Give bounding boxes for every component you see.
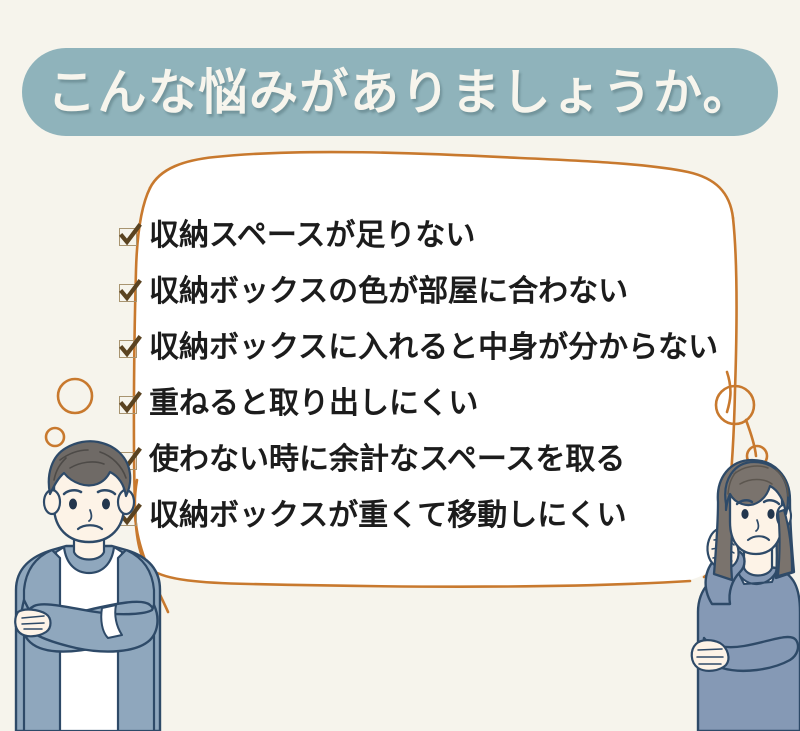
checkbox-checked-icon [118, 282, 140, 304]
list-item: 収納スペースが足りない [118, 208, 718, 264]
list-item: 収納ボックスが重くて移動しにくい [118, 488, 718, 544]
list-item-label: 収納ボックスの色が部屋に合わない [149, 277, 628, 307]
list-item: 使わない時に余計なスペースを取る [118, 432, 718, 488]
woman-eye-left [741, 509, 748, 519]
man-ear-left [44, 490, 60, 514]
bubble-tail-circle-right-large [716, 386, 754, 424]
worried-woman-illustration [672, 452, 800, 731]
worried-man-illustration [4, 440, 174, 731]
list-item-label: 収納ボックスが重くて移動しにくい [149, 501, 627, 531]
man-eye-right [102, 499, 110, 510]
list-item-label: 使わない時に余計なスペースを取る [149, 445, 625, 475]
list-item: 収納ボックスに入れると中身が分からない [118, 320, 718, 376]
checkbox-checked-icon [118, 226, 140, 248]
checkbox-checked-icon [118, 338, 140, 360]
list-item-label: 収納ボックスに入れると中身が分からない [149, 333, 718, 363]
problem-checklist: 収納スペースが足りない 収納ボックスの色が部屋に合わない 収納ボックスに入れると… [118, 208, 718, 544]
checkbox-checked-icon [118, 394, 140, 416]
bubble-tail-right-line-a [727, 372, 730, 412]
list-item-label: 重ねると取り出しにくい [149, 389, 478, 419]
bubble-outline-bottom [152, 570, 690, 587]
man-eye-left [69, 499, 77, 510]
header-banner: こんな悩みがありましょうか。 [22, 48, 778, 136]
list-item-label: 収納スペースが足りない [149, 221, 475, 251]
poster-canvas: こんな悩みがありましょうか。 収納スペースが足りない [0, 0, 800, 731]
list-item: 重ねると取り出しにくい [118, 376, 718, 432]
woman-hand-elbow [692, 640, 729, 671]
bubble-tail-right-line-b [746, 420, 756, 456]
list-item: 収納ボックスの色が部屋に合わない [118, 264, 718, 320]
bubble-tail-circle-left-large [58, 379, 92, 413]
woman-eye-right [767, 509, 774, 519]
page-title: こんな悩みがありましょうか。 [47, 68, 753, 117]
